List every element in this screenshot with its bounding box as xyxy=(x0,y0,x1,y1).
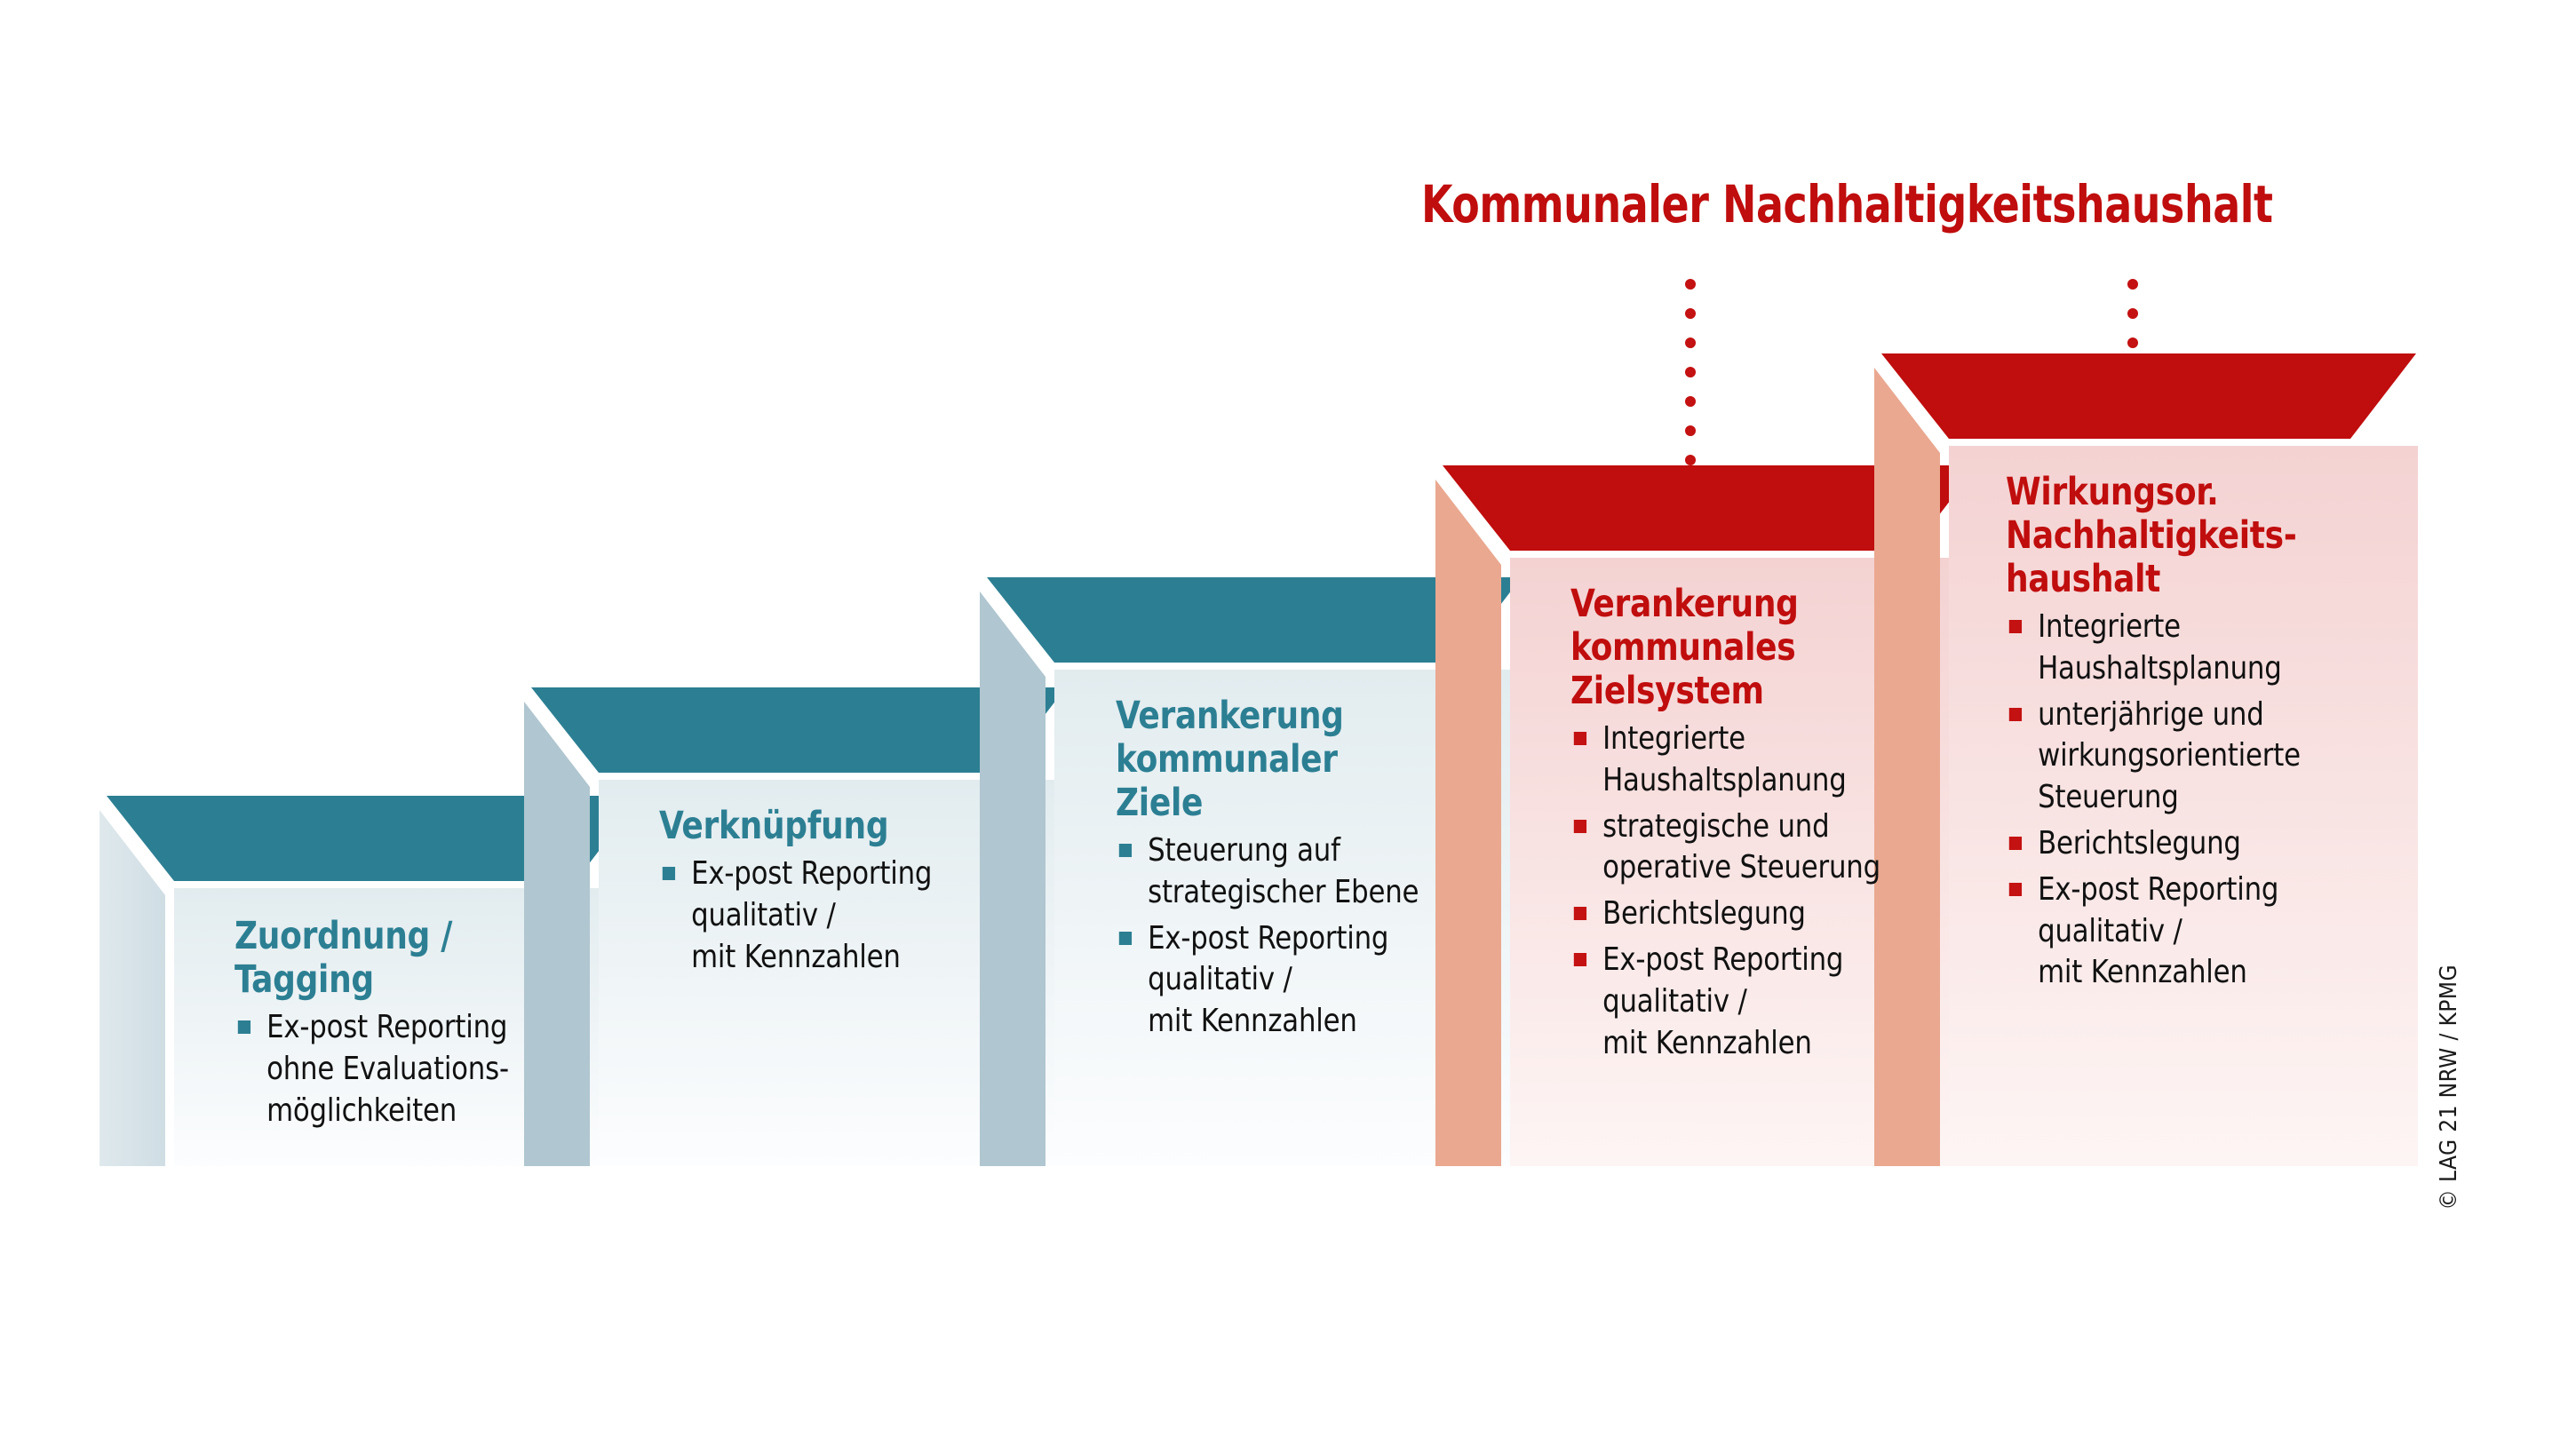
step-5-heading: Wirkungsor. Nachhaltigkeits- haushalt xyxy=(2006,471,2389,601)
step-content-2: Verknüpfung Ex-post Reporting qualitativ… xyxy=(659,805,1050,982)
bullet-square-icon xyxy=(2009,883,2022,896)
step-1-bullets: Ex-post Reporting ohne Evaluations- mögl… xyxy=(235,1007,608,1131)
bullet-square-icon xyxy=(238,1020,250,1034)
step-1-side-face xyxy=(99,810,165,1166)
bullet-square-icon xyxy=(2009,620,2022,633)
list-item: Ex-post Reporting qualitativ / mit Kennz… xyxy=(659,854,1030,978)
step-5-top-face xyxy=(1881,353,2416,439)
dotted-connector-right xyxy=(2127,279,2138,348)
list-item: strategische und operative Steuerung xyxy=(1570,806,1954,890)
bullet-square-icon xyxy=(1119,932,1132,945)
step-content-1: Zuordnung / Tagging Ex-post Reporting oh… xyxy=(235,915,608,1136)
step-5-bullets: Integrierte Haushaltsplanung unterjährig… xyxy=(2006,607,2419,994)
step-1-heading: Zuordnung / Tagging xyxy=(235,915,582,1002)
bullet-square-icon xyxy=(1119,844,1132,857)
bullet-square-icon xyxy=(1574,820,1586,833)
step-4-heading: Verankerung kommunales Zielsystem xyxy=(1570,583,1946,713)
dotted-connector-left xyxy=(1685,279,1696,465)
bullet-square-icon xyxy=(2009,837,2022,850)
step-3-heading: Verankerung kommunaler Ziele xyxy=(1116,695,1488,825)
list-item: unterjährige und wirkungsorientierte Ste… xyxy=(2006,695,2398,819)
step-content-5: Wirkungsor. Nachhaltigkeits- haushalt In… xyxy=(2006,471,2419,998)
list-item: Ex-post Reporting qualitativ / mit Kennz… xyxy=(2006,869,2398,994)
step-3-bullets: Steuerung auf strategischer Ebene Ex-pos… xyxy=(1116,830,1515,1043)
list-item: Ex-post Reporting qualitativ / mit Kennz… xyxy=(1116,918,1496,1043)
list-item: Integrierte Haushaltsplanung xyxy=(2006,607,2398,690)
step-2-bullets: Ex-post Reporting qualitativ / mit Kennz… xyxy=(659,854,1050,978)
list-item: Berichtslegung xyxy=(2006,823,2398,865)
list-item: Ex-post Reporting ohne Evaluations- mögl… xyxy=(235,1007,589,1131)
copyright-credit: © LAG 21 NRW / KPMG xyxy=(2436,965,2462,1211)
diagram-title: Kommunaler Nachhaltigkeitshaushalt xyxy=(1421,174,2359,234)
bullet-square-icon xyxy=(1574,953,1586,966)
list-item: Steuerung auf strategischer Ebene xyxy=(1116,830,1496,914)
bullet-square-icon xyxy=(663,867,675,880)
list-item: Ex-post Reporting qualitativ / mit Kennz… xyxy=(1570,940,1954,1064)
step-2-heading: Verknüpfung xyxy=(659,805,1022,848)
staircase-diagram: Kommunaler Nachhaltigkeitshaushalt Zuord… xyxy=(0,0,2576,1445)
step-4-bullets: Integrierte Haushaltsplanung strategisch… xyxy=(1570,719,1975,1064)
bullet-square-icon xyxy=(2009,708,2022,721)
step-content-3: Verankerung kommunaler Ziele Steuerung a… xyxy=(1116,695,1515,1047)
bullet-square-icon xyxy=(1574,732,1586,745)
step-content-4: Verankerung kommunales Zielsystem Integr… xyxy=(1570,583,1975,1068)
bullet-square-icon xyxy=(1574,907,1586,920)
list-item: Berichtslegung xyxy=(1570,893,1954,935)
list-item: Integrierte Haushaltsplanung xyxy=(1570,719,1954,802)
